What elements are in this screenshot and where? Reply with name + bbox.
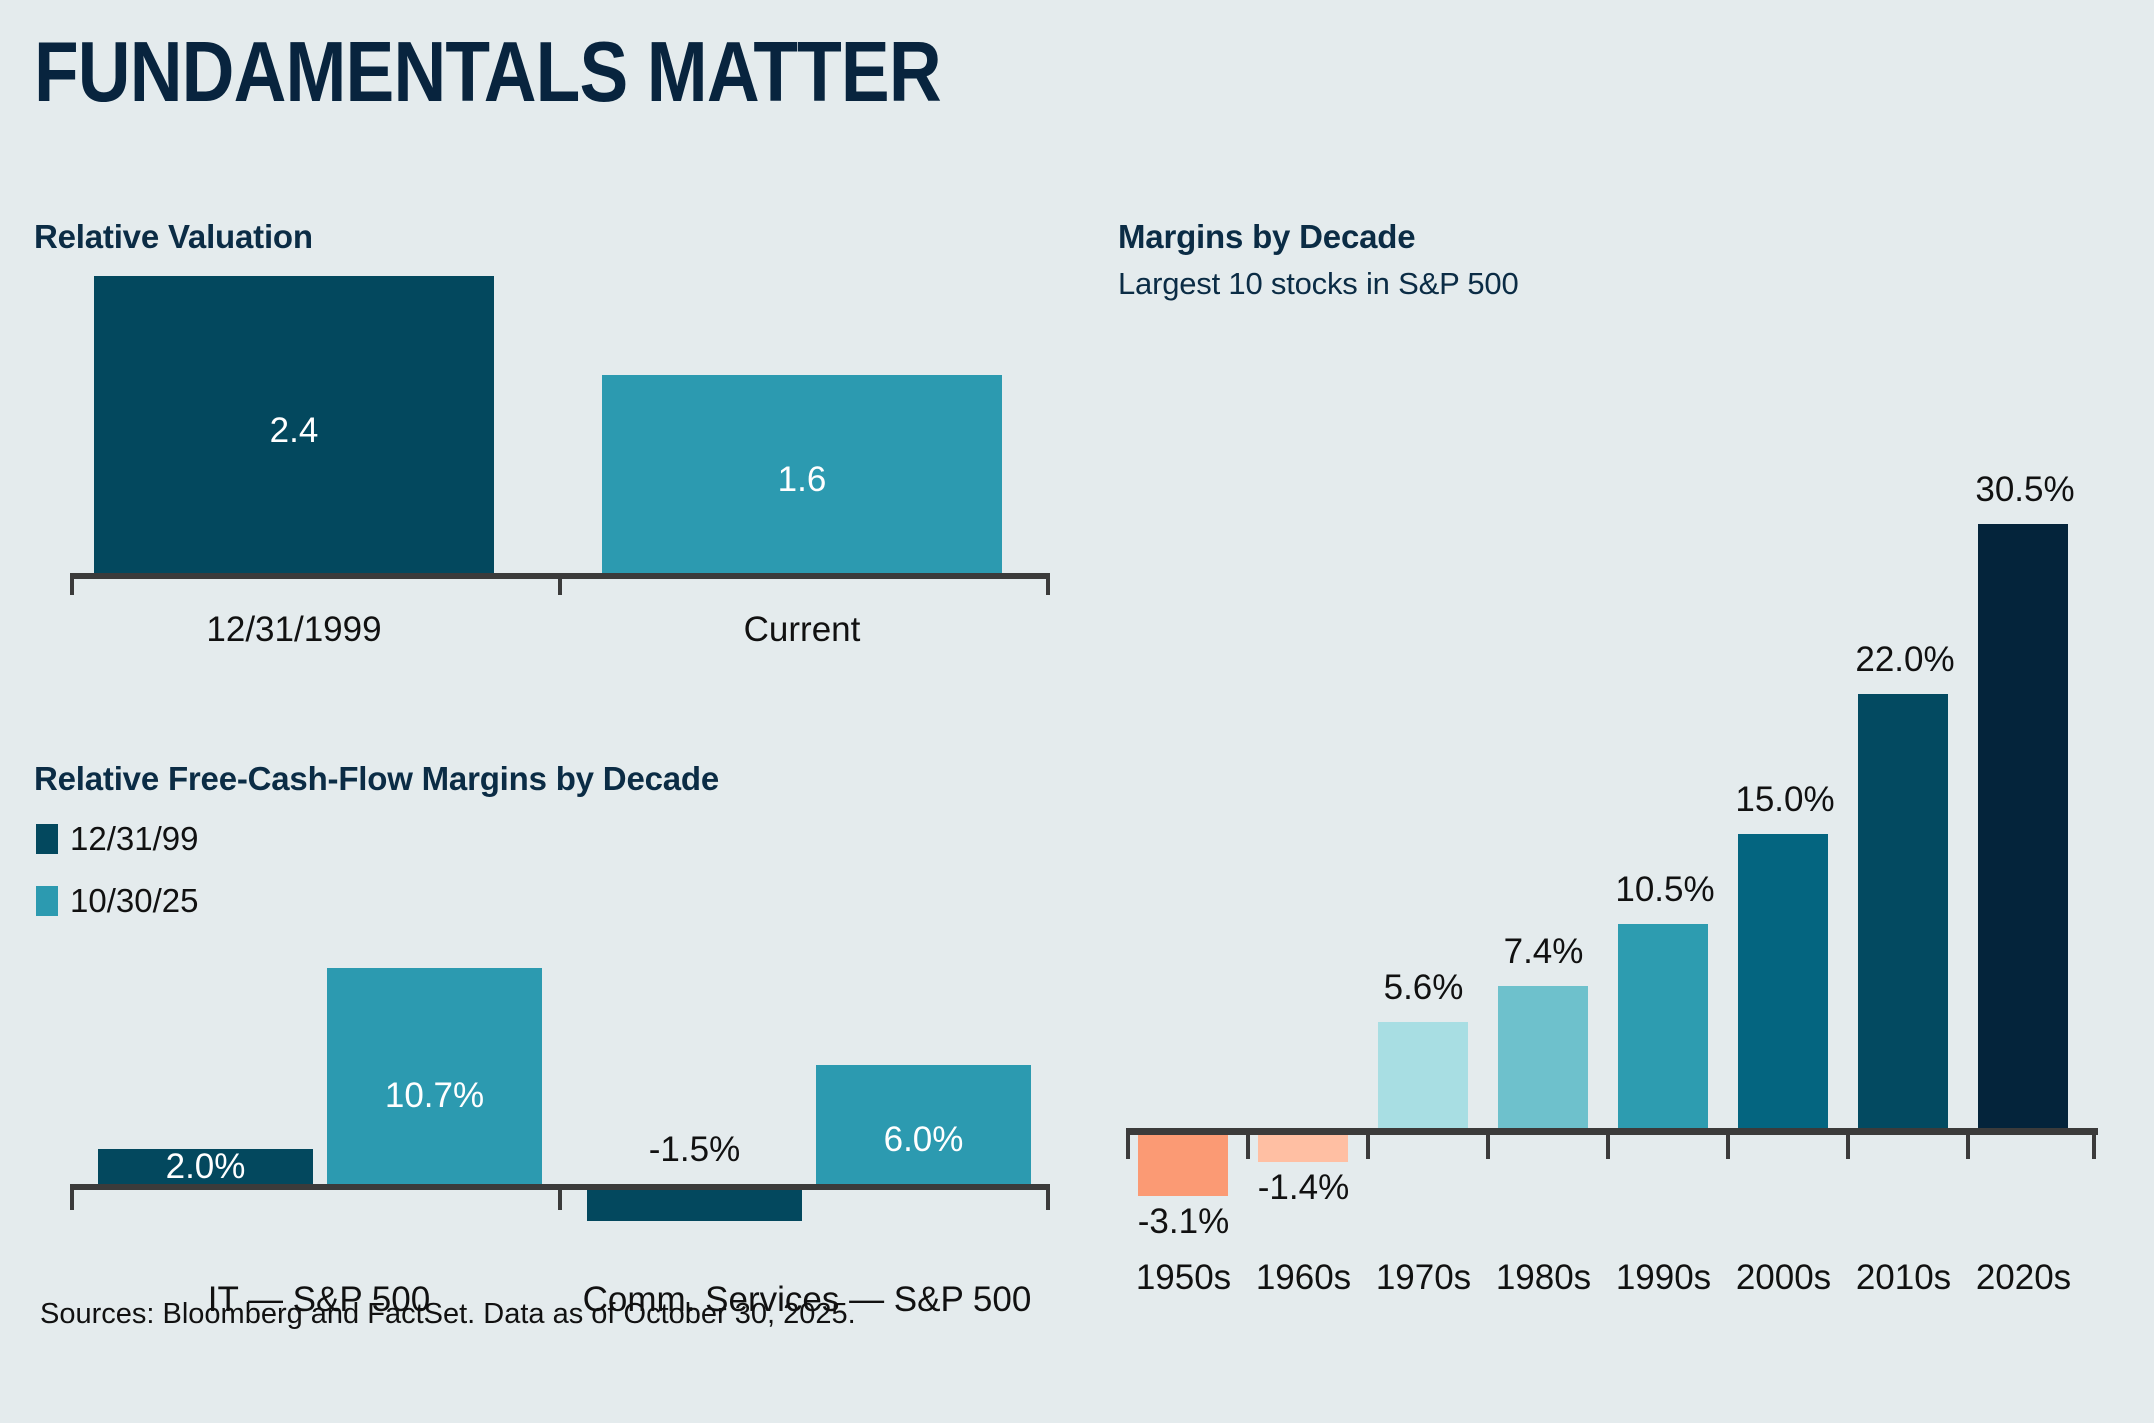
bar-value-label-1950s: -3.1% bbox=[1126, 1202, 1241, 1242]
axis-tick-left bbox=[70, 577, 74, 595]
legend-item-1030-25: 10/30/25 bbox=[36, 882, 198, 920]
chart-relative-valuation-title: Relative Valuation bbox=[34, 218, 313, 256]
legend-label: 10/30/25 bbox=[70, 882, 198, 920]
axis-tick-right bbox=[1046, 1190, 1050, 1210]
category-label-valuation-1: Current bbox=[602, 610, 1002, 650]
category-label-1950s: 1950s bbox=[1126, 1258, 1241, 1298]
axis-tick-mid bbox=[558, 577, 562, 595]
bar-value-label-negative: -1.5% bbox=[587, 1130, 802, 1170]
axis-tick-2 bbox=[1366, 1135, 1370, 1159]
axis-tick-6 bbox=[1846, 1135, 1850, 1159]
x-axis-line bbox=[1126, 1128, 2098, 1135]
bar-decade-2000s bbox=[1738, 834, 1828, 1134]
category-label-valuation-0: 12/31/1999 bbox=[94, 610, 494, 650]
bar-decade-1950s bbox=[1138, 1134, 1228, 1196]
axis-tick-8 bbox=[2092, 1135, 2096, 1159]
bar-value-label-1990s: 10.5% bbox=[1600, 870, 1730, 910]
bar-value-label: 1.6 bbox=[602, 460, 1002, 500]
axis-tick-left bbox=[70, 1190, 74, 1210]
axis-tick-right bbox=[1046, 577, 1050, 595]
bar-value-label: 10.7% bbox=[327, 1076, 542, 1116]
chart-margins-by-decade: Margins by Decade Largest 10 stocks in S… bbox=[1118, 218, 2128, 1338]
bar-value-label: 2.0% bbox=[98, 1147, 313, 1187]
chart-relative-valuation: Relative Valuation 2.4 1.6 12/31/1999 Cu… bbox=[34, 218, 1074, 648]
bar-value-label: 6.0% bbox=[816, 1120, 1031, 1160]
source-note: Sources: Bloomberg and FactSet. Data as … bbox=[40, 1298, 856, 1331]
bar-value-label-2010s: 22.0% bbox=[1840, 640, 1970, 680]
bar-fcf-it-1030-25: 10.7% bbox=[327, 968, 542, 1190]
bar-decade-1970s bbox=[1378, 1022, 1468, 1134]
axis-tick-1 bbox=[1246, 1135, 1250, 1159]
bar-value-label-2020s: 30.5% bbox=[1960, 470, 2090, 510]
category-label-1960s: 1960s bbox=[1246, 1258, 1361, 1298]
axis-tick-mid bbox=[558, 1190, 562, 1210]
bar-valuation-1: 1.6 bbox=[602, 375, 1002, 573]
legend-item-1231-99: 12/31/99 bbox=[36, 820, 198, 858]
bar-decade-2010s bbox=[1858, 694, 1948, 1134]
axis-tick-4 bbox=[1606, 1135, 1610, 1159]
bar-value-label: 2.4 bbox=[94, 411, 494, 451]
margins-by-decade-plot: -3.1% -1.4% 5.6% 7.4% 10.5% 15.0% 22.0% … bbox=[1118, 218, 2128, 1218]
legend-swatch-icon bbox=[36, 824, 58, 854]
legend-swatch-icon bbox=[36, 886, 58, 916]
category-label-1970s: 1970s bbox=[1366, 1258, 1481, 1298]
bar-fcf-comm-1231-99 bbox=[587, 1190, 802, 1221]
category-label-1990s: 1990s bbox=[1606, 1258, 1721, 1298]
bar-decade-1980s bbox=[1498, 986, 1588, 1134]
axis-tick-3 bbox=[1486, 1135, 1490, 1159]
bar-valuation-0: 2.4 bbox=[94, 276, 494, 573]
chart-relative-fcf-margins: Relative Free-Cash-Flow Margins by Decad… bbox=[34, 760, 1074, 1340]
relative-fcf-plot: 2.0% 10.7% -1.5% 6.0% bbox=[34, 940, 1074, 1240]
chart-relative-fcf-title: Relative Free-Cash-Flow Margins by Decad… bbox=[34, 760, 719, 798]
axis-tick-5 bbox=[1726, 1135, 1730, 1159]
bar-decade-1990s bbox=[1618, 924, 1708, 1134]
category-label-2000s: 2000s bbox=[1726, 1258, 1841, 1298]
legend-label: 12/31/99 bbox=[70, 820, 198, 858]
axis-tick-0 bbox=[1126, 1135, 1130, 1159]
bar-decade-2020s bbox=[1978, 524, 2068, 1134]
bar-value-label-1970s: 5.6% bbox=[1366, 968, 1481, 1008]
category-label-2020s: 2020s bbox=[1966, 1258, 2081, 1298]
bar-value-label-1960s: -1.4% bbox=[1246, 1168, 1361, 1208]
bar-value-label-2000s: 15.0% bbox=[1720, 780, 1850, 820]
relative-valuation-plot: 2.4 1.6 bbox=[34, 268, 1074, 573]
page-title: FUNDAMENTALS MATTER bbox=[34, 28, 941, 118]
category-label-1980s: 1980s bbox=[1486, 1258, 1601, 1298]
axis-tick-7 bbox=[1966, 1135, 1970, 1159]
bar-value-label-1980s: 7.4% bbox=[1486, 932, 1601, 972]
infographic-page: FUNDAMENTALS MATTER Relative Valuation 2… bbox=[0, 0, 2154, 1423]
bar-decade-1960s bbox=[1258, 1134, 1348, 1162]
category-label-2010s: 2010s bbox=[1846, 1258, 1961, 1298]
bar-fcf-comm-1030-25: 6.0% bbox=[816, 1065, 1031, 1190]
